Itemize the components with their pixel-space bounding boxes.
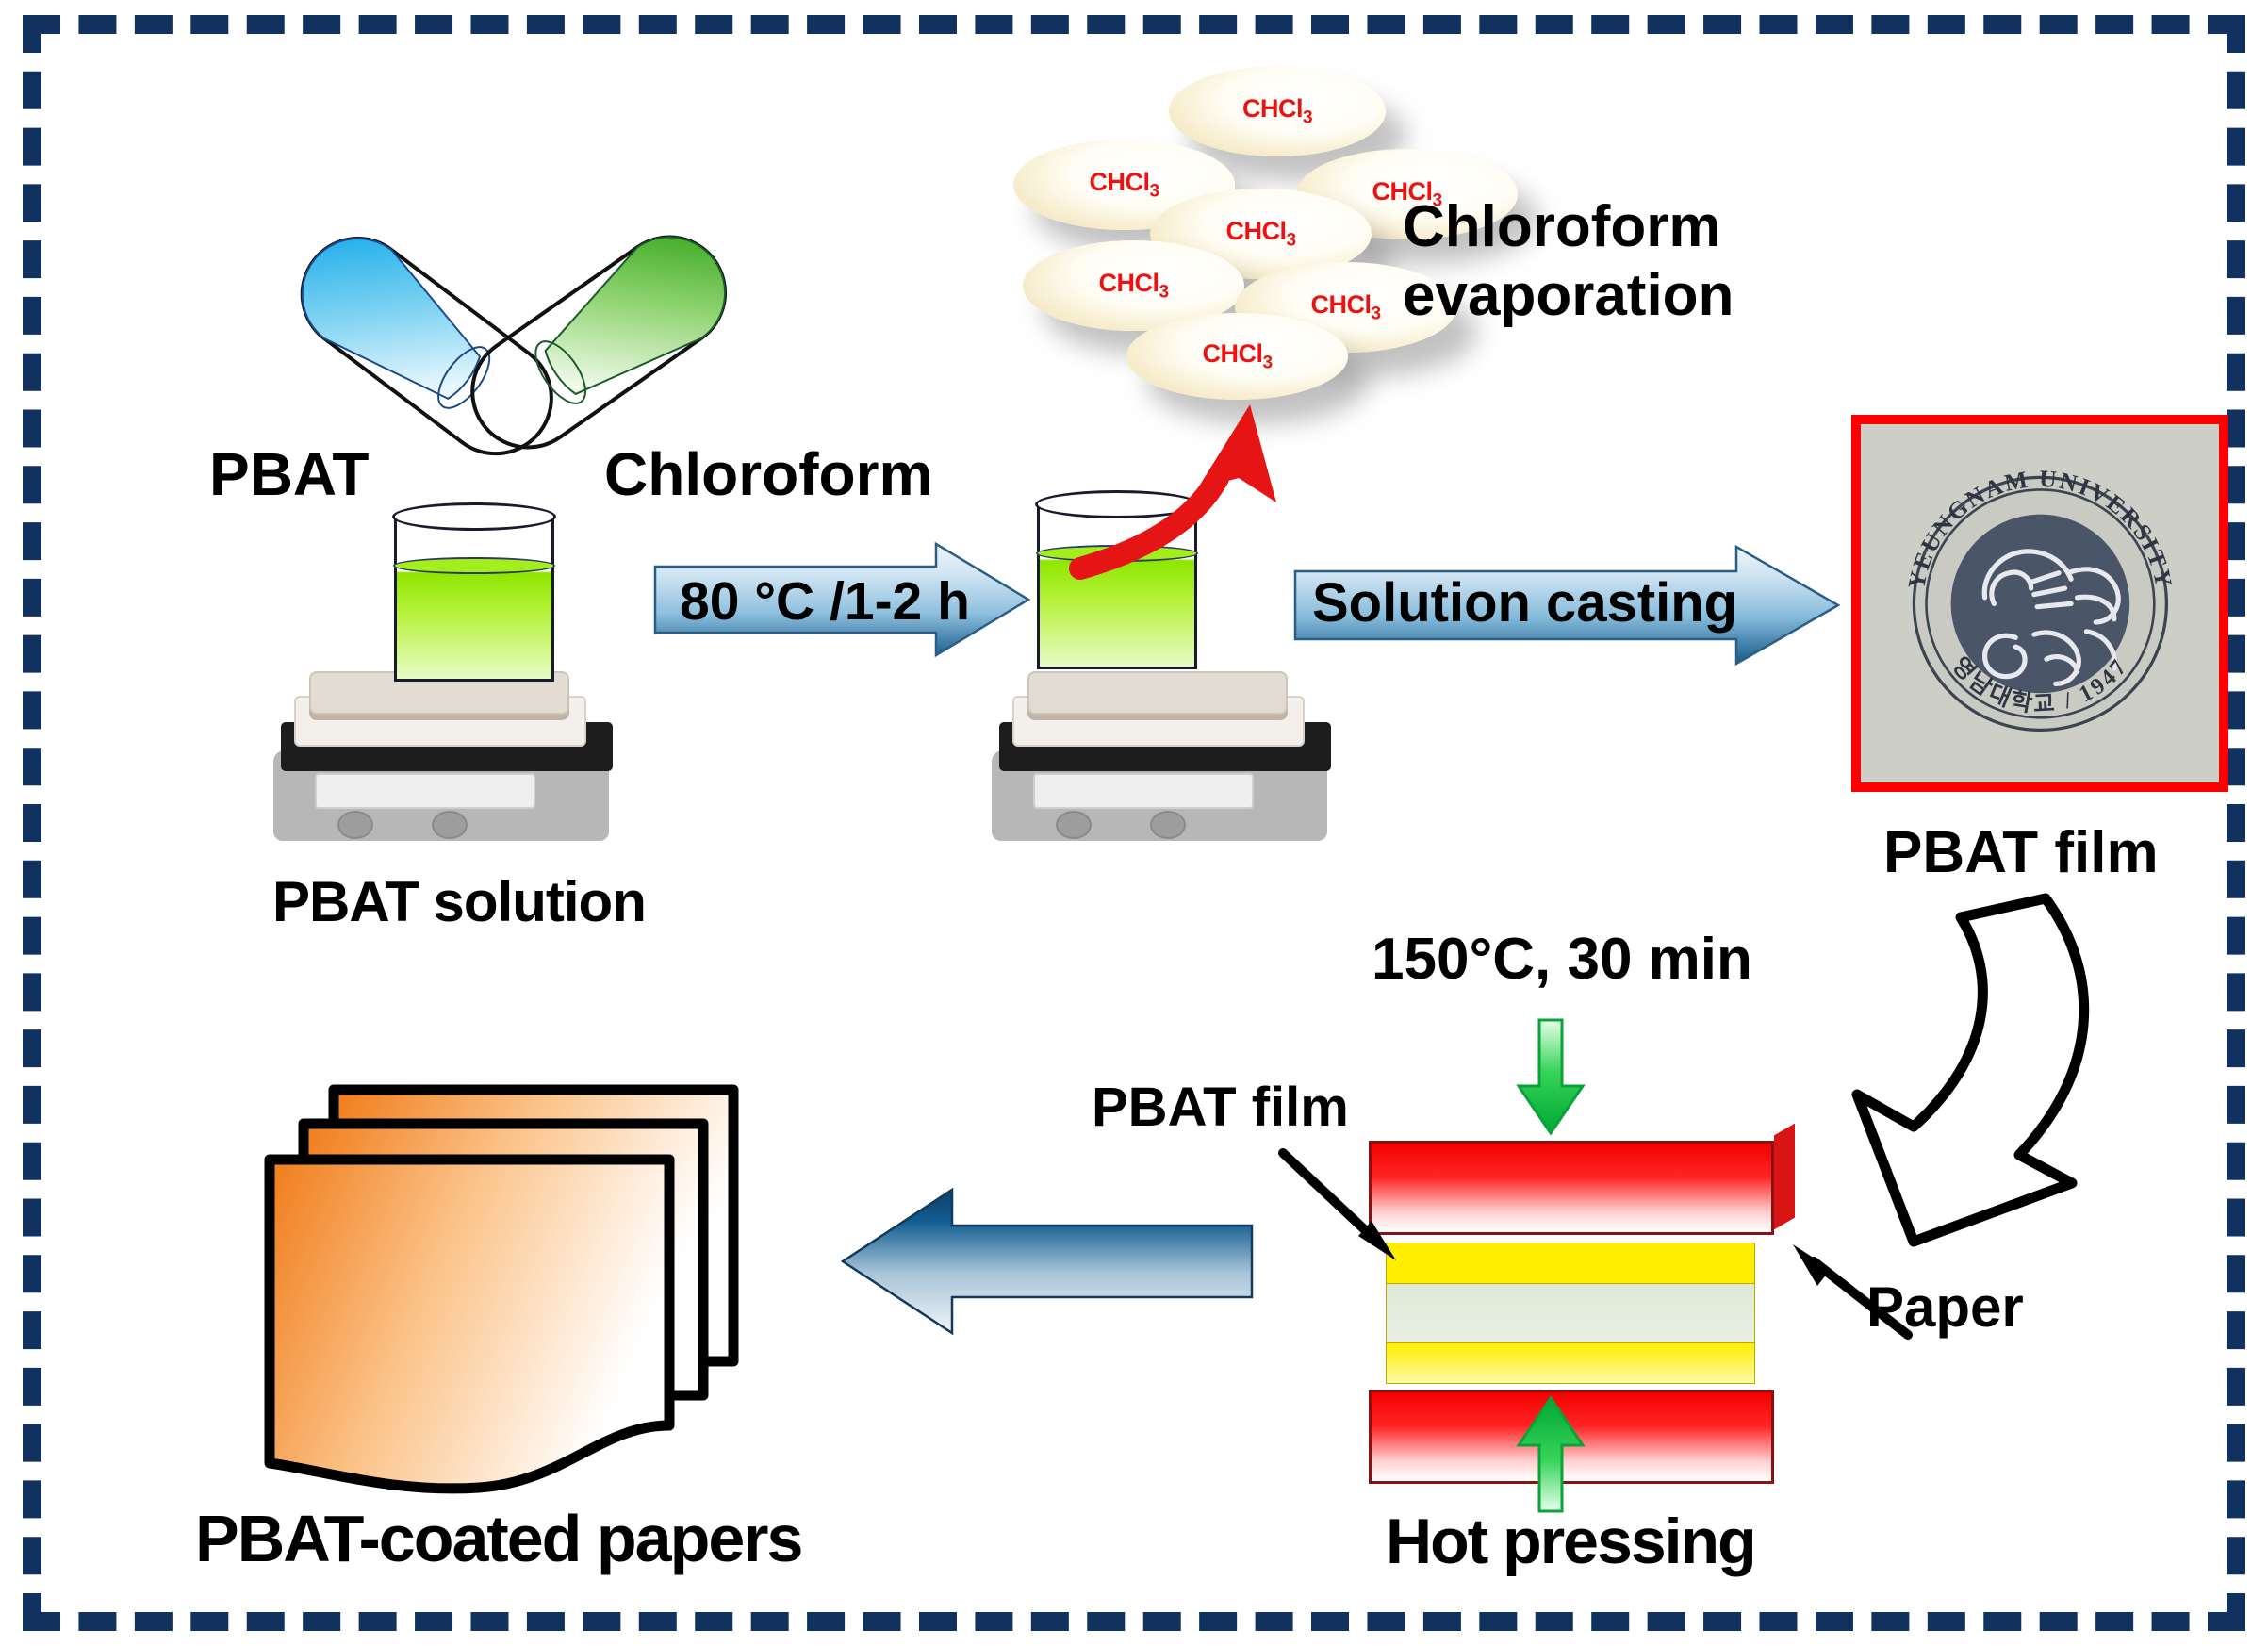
hotplate-stirrer-1 — [273, 660, 632, 848]
droplet-label: CHCl3 — [1089, 168, 1159, 202]
film-to-press-curved-arrow — [1772, 872, 2149, 1249]
casting-arrow-label: Solution casting — [1312, 571, 1737, 634]
chloroform-label: Chloroform — [604, 443, 932, 506]
chloroform-evaporation-label: Chloroform evaporation — [1403, 196, 1734, 326]
left-arrow-shape — [830, 1177, 1254, 1346]
droplet-label: CHCl3 — [1098, 269, 1168, 303]
droplet-label: CHCl3 — [1202, 339, 1272, 373]
pbat-film-stack-label: PBAT film — [1092, 1079, 1349, 1137]
droplet-label: CHCl3 — [1225, 217, 1295, 251]
curved-arrow-glyph — [1772, 872, 2149, 1249]
stirrer-knob-right-1[interactable] — [432, 811, 468, 839]
stirrer-knob-right-2[interactable] — [1150, 811, 1186, 839]
solution-casting-arrow: Solution casting — [1293, 545, 1840, 666]
beaker-pbat-solution — [394, 502, 554, 682]
pbat-solution-label: PBAT solution — [272, 872, 646, 931]
paper-label: Paper — [1866, 1277, 2024, 1337]
yeungnam-university-seal: YEUNGNAM UNIVERSITY 영남대학교 / 1947 — [1886, 450, 2194, 758]
chloroform-evaporation-line1: Chloroform — [1403, 196, 1734, 257]
stirrer-display-2 — [1033, 773, 1254, 809]
to-coated-papers-arrow — [830, 1177, 1254, 1346]
pbat-film-pointer-arrow — [1277, 1145, 1409, 1268]
evaporation-arrow-red — [1075, 391, 1329, 608]
process-diagram-canvas: CHCl3 CHCl3 CHCl3 CHCl3 CHCl3 CHCl3 CHCl… — [0, 0, 2268, 1646]
beaker-glass — [394, 516, 554, 682]
evaporation-arrow-glyph — [1075, 391, 1329, 608]
pbat-film-top-layer — [1386, 1243, 1755, 1284]
droplet-label: CHCl3 — [1242, 94, 1312, 128]
hotplate-stirrer-2 — [992, 660, 1350, 848]
stirrer-plate-2 — [1027, 671, 1288, 715]
coated-papers-label: PBAT-coated papers — [195, 1505, 801, 1574]
droplet-chcl3: CHCl3 — [1126, 313, 1348, 400]
press-force-arrow-bottom — [1513, 1395, 1588, 1513]
heating-step-arrow: 80 °C /1-2 h — [653, 542, 1030, 657]
coated-paper-sheets — [243, 1056, 771, 1499]
hotpress-conditions-label: 150°C, 30 min — [1372, 929, 1752, 990]
platen-top-bevel — [1774, 1124, 1795, 1230]
pbat-film-photo: YEUNGNAM UNIVERSITY 영남대학교 / 1947 — [1851, 415, 2228, 792]
green-down-arrow — [1513, 1018, 1588, 1136]
heated-platen-top — [1369, 1141, 1774, 1235]
paper-core-layer — [1386, 1284, 1755, 1342]
pbat-film-bottom-layer — [1386, 1342, 1755, 1384]
stirrer-display-1 — [315, 773, 535, 809]
press-force-arrow-top — [1513, 1018, 1588, 1136]
pointer-arrow-to-film — [1277, 1145, 1409, 1268]
pbat-coated-paper-stack — [243, 1056, 771, 1499]
hot-pressing-label: Hot pressing — [1386, 1508, 1755, 1575]
beaker-rim — [392, 502, 556, 531]
pbat-label: PBAT — [209, 443, 369, 506]
stirrer-knob-left-1[interactable] — [337, 811, 373, 839]
green-up-arrow — [1513, 1395, 1588, 1513]
beaker-liquid-surface — [393, 557, 555, 574]
droplet-chcl3: CHCl3 — [1169, 66, 1386, 156]
chloroform-evaporation-line2: evaporation — [1403, 265, 1734, 326]
droplet-label: CHCl3 — [1310, 290, 1380, 324]
stirrer-knob-left-2[interactable] — [1056, 811, 1092, 839]
heating-arrow-label: 80 °C /1-2 h — [680, 570, 970, 633]
